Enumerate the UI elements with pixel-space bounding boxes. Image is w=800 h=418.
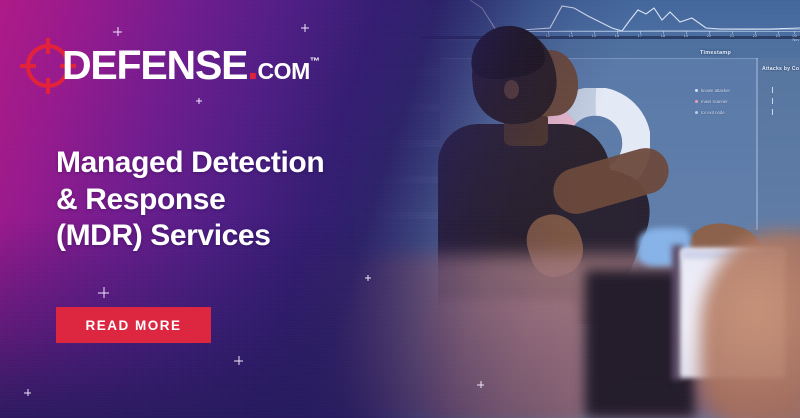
- logo-wordmark: DEFENSE.COM™: [62, 45, 320, 86]
- headline-line-1: Managed Detection: [56, 146, 324, 179]
- trademark-icon: ™: [310, 56, 320, 67]
- headline-line-2: & Response: [56, 183, 225, 216]
- brand-logo[interactable]: DEFENSE.COM™: [18, 36, 318, 98]
- logo-com-text: COM: [257, 58, 309, 84]
- promo-banner: 10 12 14 15 16 17 18 19 20 21 22 23 00 N…: [0, 0, 800, 418]
- headline-line-3: (MDR) Services: [56, 219, 270, 252]
- logo-word-text: DEFENSE: [62, 42, 247, 88]
- read-more-label: READ MORE: [85, 318, 181, 333]
- read-more-button[interactable]: READ MORE: [56, 307, 211, 343]
- logo-dot: .: [247, 42, 257, 88]
- page-title: Managed Detection & Response (MDR) Servi…: [56, 145, 324, 255]
